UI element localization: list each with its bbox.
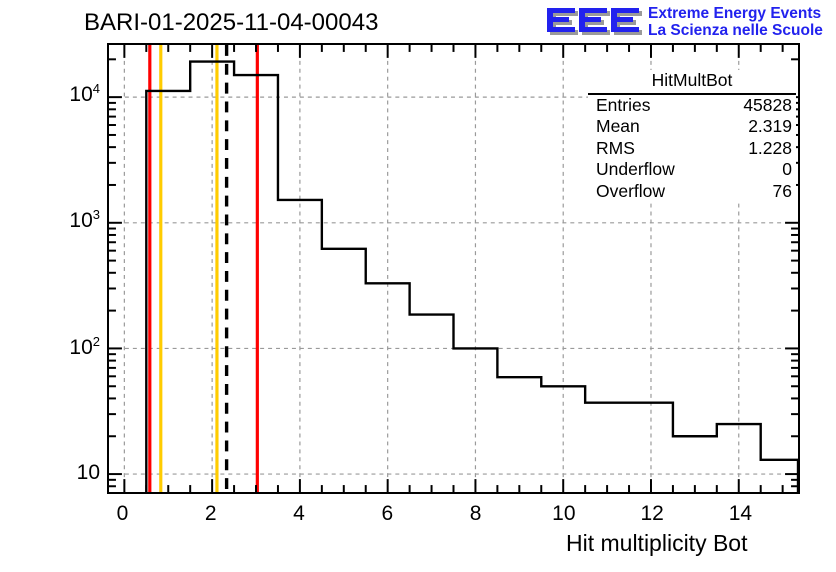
stat-key: Entries: [596, 95, 650, 117]
stat-value: 0: [782, 159, 792, 181]
stat-key: Mean: [596, 116, 640, 138]
page-title: BARI-01-2025-11-04-00043: [84, 9, 378, 37]
eee-logo: Extreme Energy Events La Scienza nelle S…: [540, 2, 832, 40]
logo-line2: La Scienza nelle Scuole: [648, 22, 823, 39]
x-tick-label: 14: [710, 502, 770, 526]
y-tick-label: 104: [30, 81, 100, 107]
x-tick-label: 10: [534, 502, 594, 526]
stat-row: RMS1.228: [588, 138, 796, 160]
x-tick-label: 6: [357, 502, 417, 526]
eee-logo-mark: [547, 8, 642, 35]
x-tick-label: 8: [446, 502, 506, 526]
logo-line1: Extreme Energy Events: [648, 5, 821, 22]
stats-title: HitMultBot: [588, 70, 796, 95]
plot-canvas: BARI-01-2025-11-04-00043 Extreme Energy …: [0, 0, 836, 572]
stats-rows: Entries45828Mean2.319RMS1.228Underflow0O…: [588, 95, 796, 203]
x-tick-label: 12: [622, 502, 682, 526]
stat-value: 45828: [743, 95, 792, 117]
stat-key: Underflow: [596, 159, 675, 181]
stat-key: RMS: [596, 138, 635, 160]
x-tick-label: 0: [92, 502, 152, 526]
stat-row: Entries45828: [588, 95, 796, 117]
stat-row: Mean2.319: [588, 116, 796, 138]
y-tick-label: 103: [30, 207, 100, 233]
stat-value: 1.228: [748, 138, 792, 160]
stat-row: Underflow0: [588, 159, 796, 181]
y-tick-label: 102: [30, 334, 100, 360]
stat-value: 76: [773, 181, 792, 203]
x-tick-label: 2: [181, 502, 241, 526]
x-tick-label: 4: [269, 502, 329, 526]
stat-value: 2.319: [748, 116, 792, 138]
stat-key: Overflow: [596, 181, 665, 203]
y-tick-label: 10: [30, 461, 100, 485]
marker-lines: [150, 45, 258, 492]
stats-box: HitMultBot Entries45828Mean2.319RMS1.228…: [588, 70, 796, 202]
stat-row: Overflow76: [588, 181, 796, 203]
x-axis-title: Hit multiplicity Bot: [566, 530, 747, 557]
